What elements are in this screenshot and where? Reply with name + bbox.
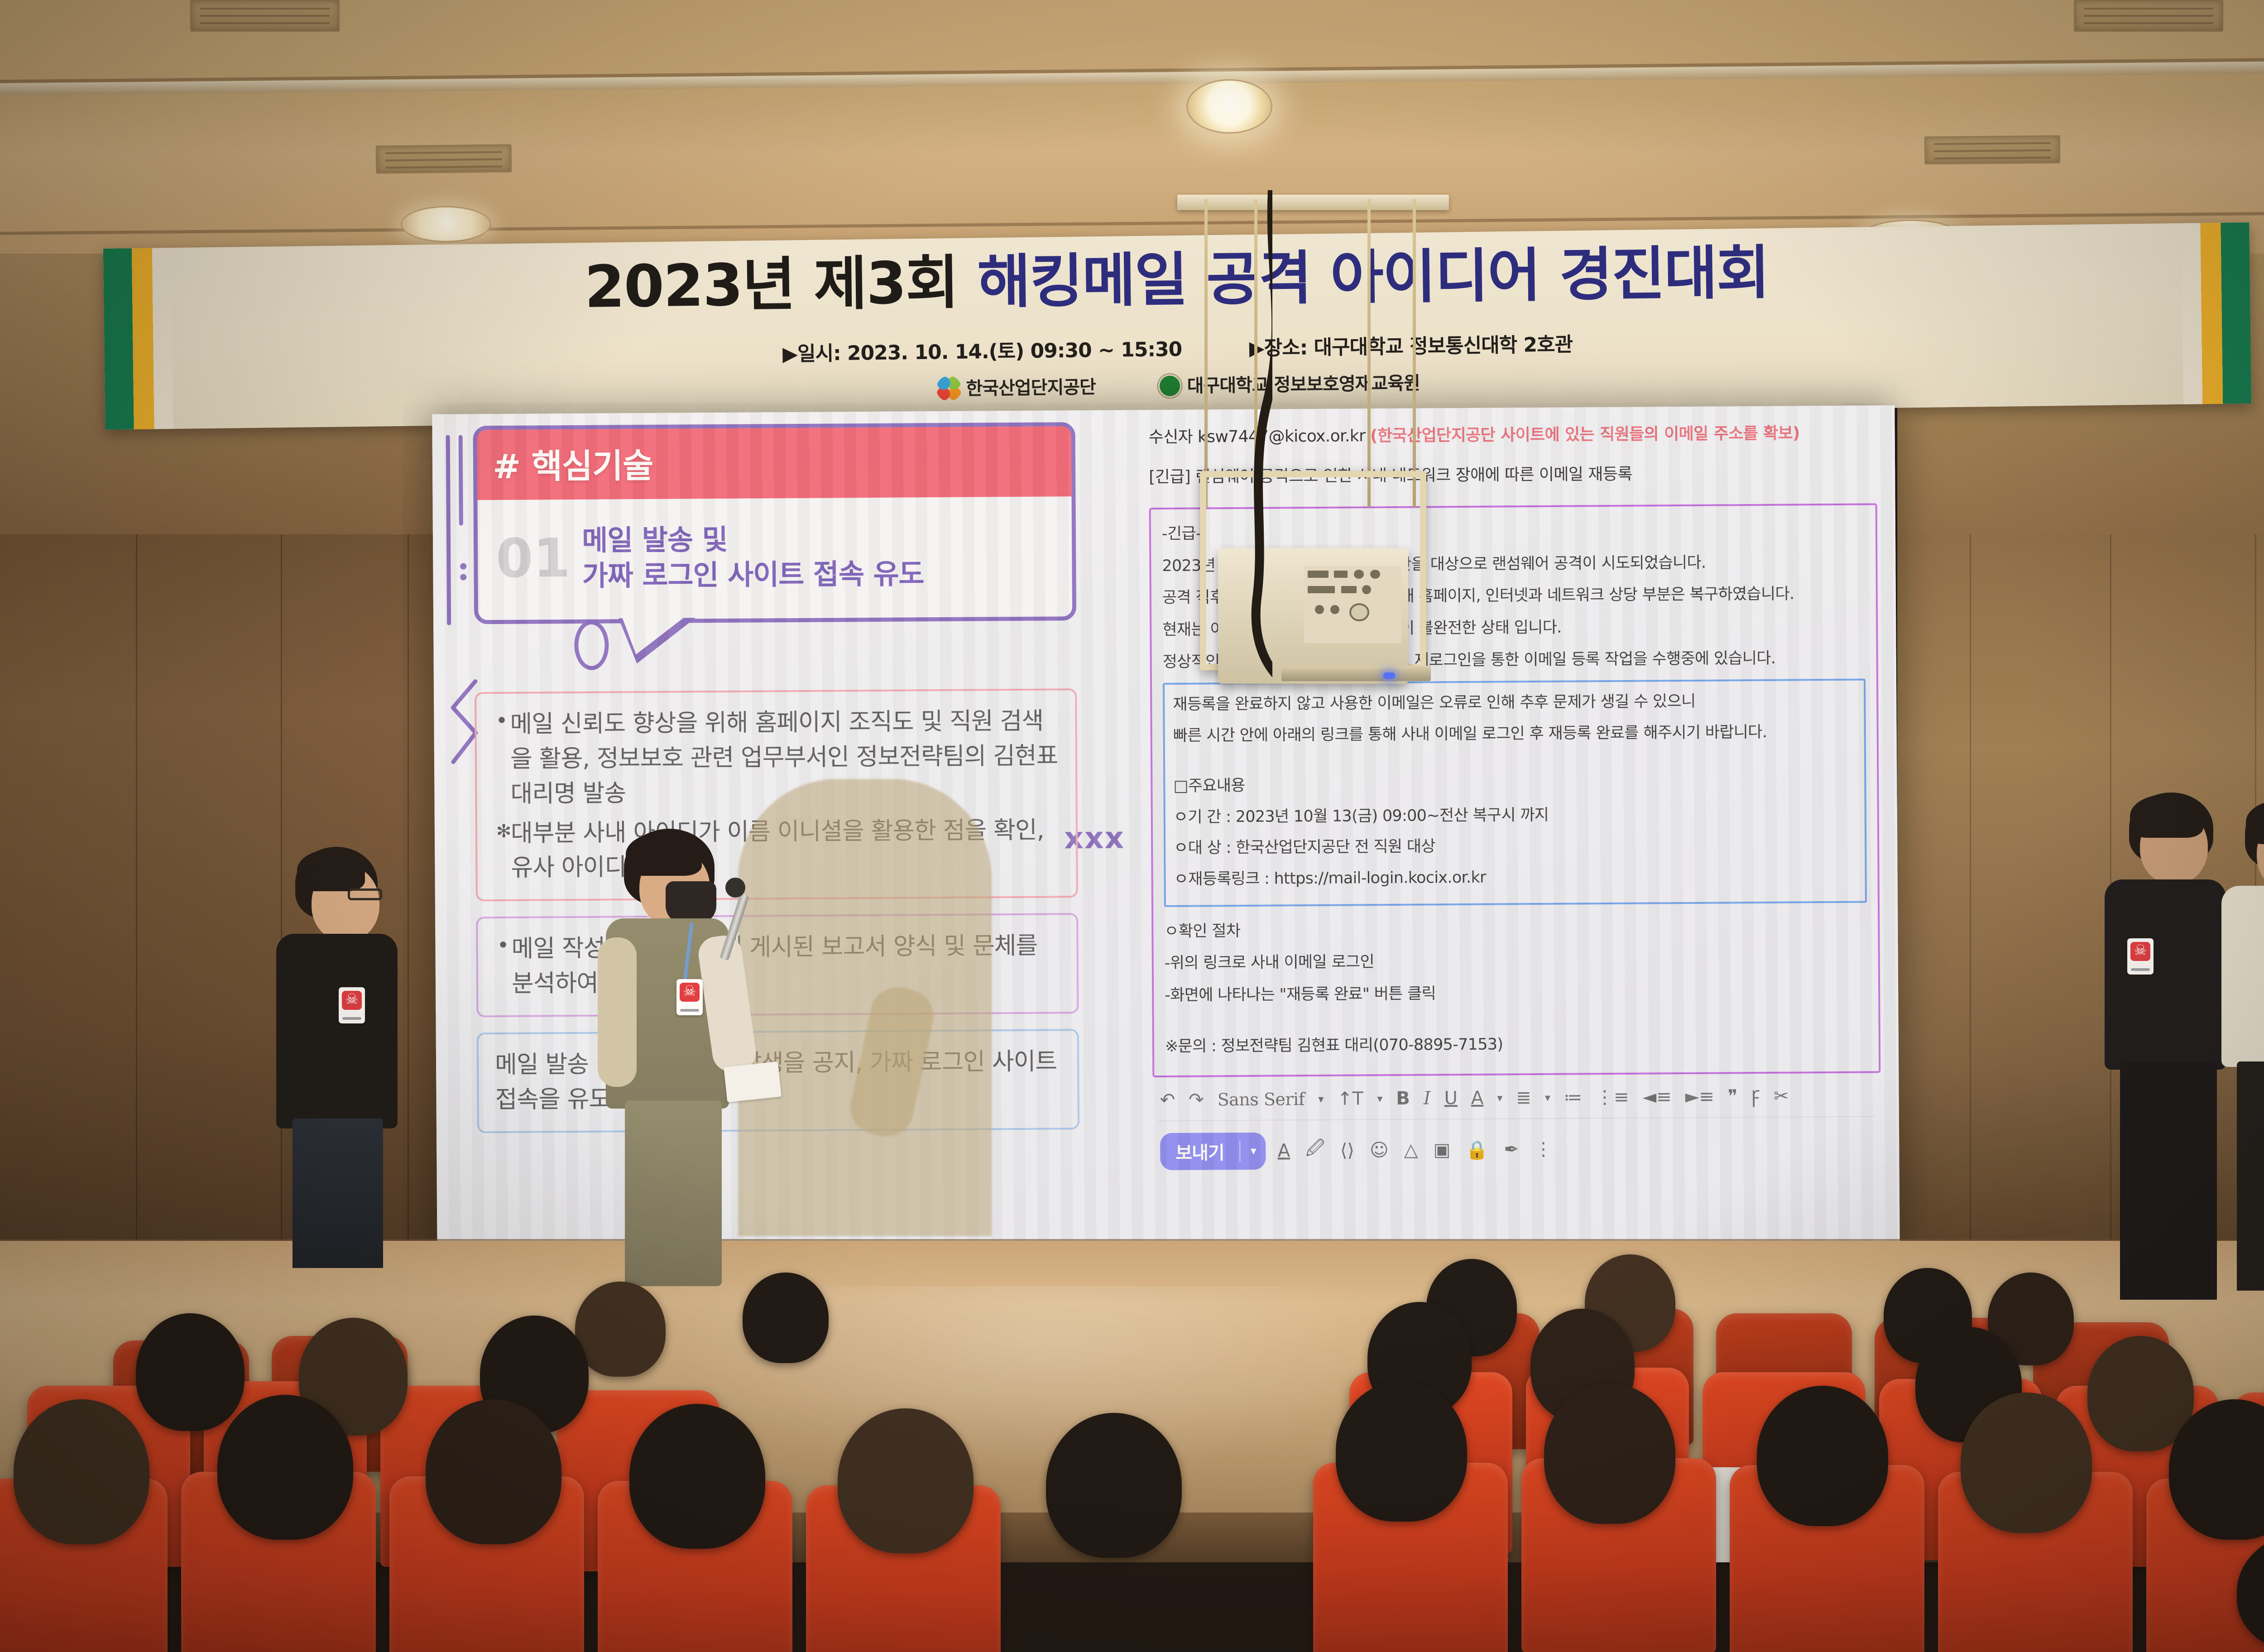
audience-head	[1757, 1386, 1888, 1526]
mail-item-link[interactable]: ㅇ재등록링크 : https://mail-login.kocix.or.kr	[1174, 863, 1856, 893]
chevron-down-icon[interactable]: ▾	[1545, 1091, 1550, 1104]
numbered-list-icon[interactable]: ≔	[1564, 1087, 1582, 1108]
ceiling-vent	[190, 0, 340, 32]
hair-front	[297, 850, 365, 891]
redo-icon[interactable]: ↷	[1189, 1089, 1204, 1110]
bubble-dot-icon	[574, 620, 609, 670]
ceiling-vent	[2074, 0, 2223, 32]
mail-section-main: □주요내용	[1173, 769, 1856, 799]
screenshot-root: 2023년 제3회 해킹메일 공격 아이디어 경진대회 ▶일시: 2023. 1…	[0, 0, 2264, 1652]
audience-head	[217, 1395, 353, 1540]
attach-file-icon[interactable]: 🖉	[1305, 1135, 1325, 1166]
insert-link-icon[interactable]: ⟨⟩	[1340, 1140, 1354, 1161]
decor-bar-icon	[446, 435, 451, 625]
indent-more-icon[interactable]: ►≡	[1685, 1086, 1715, 1107]
insert-photo-icon[interactable]: ▣	[1433, 1139, 1450, 1160]
name-badge	[2127, 938, 2154, 975]
hair-front	[2130, 794, 2203, 838]
mail-contact-line: ※문의 : 정보전략팀 김현표 대리(070-8895-7153)	[1165, 1029, 1868, 1059]
hair-front	[626, 832, 702, 876]
quote-icon[interactable]: ❞	[1728, 1086, 1738, 1107]
ceiling-vent	[376, 144, 512, 173]
mail-callout-line1: 재등록을 완료하지 않고 사용한 이메일은 오류로 인해 추후 문제가 생길 수…	[1173, 688, 1856, 718]
insert-emoji-icon[interactable]: ☺	[1370, 1140, 1389, 1161]
bubble-frame: # 핵심기술 01 메일 발송 및 가짜 로그인 사이트 접속 유도	[473, 422, 1076, 624]
mail-step-2: -화면에 나타나는 "재등록 완료" 버튼 클릭	[1165, 978, 1867, 1008]
hair-front	[2246, 800, 2264, 844]
event-banner: 2023년 제3회 해킹메일 공격 아이디어 경진대회 ▶일시: 2023. 1…	[103, 222, 2252, 430]
face-mask	[666, 881, 716, 924]
projector-cable	[1218, 190, 1272, 684]
projector-power-led-icon	[1383, 672, 1395, 679]
microphone-head-icon	[725, 878, 745, 898]
daegu-university-logo-icon	[1157, 373, 1183, 399]
step-text: 메일 발송 및 가짜 로그인 사이트 접속 유도	[582, 521, 924, 593]
undo-icon[interactable]: ↶	[1160, 1090, 1175, 1110]
compose-footer: 보내기 ▾ A 🖉 ⟨⟩ ☺ △ ▣ 🔒 ✒	[1153, 1117, 1881, 1171]
presenter-speaking	[598, 829, 779, 1286]
underline-icon[interactable]: U	[1444, 1088, 1458, 1109]
legs	[2237, 1061, 2264, 1291]
mail-callout-line2: 빠른 시간 안에 아래의 링크를 통해 사내 이메일 로그인 후 재등록 완료를…	[1173, 719, 1856, 749]
chevron-down-icon[interactable]: ▾	[1318, 1093, 1324, 1105]
kicox-logo-icon	[936, 376, 962, 402]
decor-dots-icon: ••	[457, 562, 469, 583]
audience-head	[629, 1404, 765, 1549]
audience-head	[1961, 1393, 2092, 1533]
audience-head	[1544, 1383, 1675, 1524]
step-line-2: 가짜 로그인 사이트 접속 유도	[582, 556, 924, 593]
projector-ports-panel	[1304, 566, 1401, 643]
step-number: 01	[496, 534, 571, 582]
key-tech-tag: # 핵심기술	[493, 436, 1056, 488]
compose-footer-icons: A 🖉 ⟨⟩ ☺ △ ▣ 🔒 ✒ ⋮	[1278, 1134, 1553, 1167]
remove-formatting-icon[interactable]: ✂	[1774, 1085, 1789, 1106]
note-item: 메일 신뢰도 향상을 위해 홈페이지 조직도 및 직원 검색을 활용, 정보보호…	[493, 704, 1059, 812]
torso	[2105, 879, 2226, 1070]
bubble-tail-inner-icon	[622, 617, 685, 654]
sleeve-left	[598, 937, 637, 1087]
ceiling-vent	[1924, 135, 2061, 165]
mail-item-target: ㅇ대 상 : 한국산업단지공단 전 직원 대상	[1174, 831, 1856, 861]
ceiling-downlight	[1186, 79, 1272, 134]
bubble-body: 01 메일 발송 및 가짜 로그인 사이트 접속 유도	[477, 496, 1072, 620]
glasses-icon	[348, 888, 382, 900]
send-button-label: 보내기	[1160, 1138, 1240, 1165]
align-icon[interactable]: ≣	[1516, 1087, 1531, 1108]
font-size-icon[interactable]: ↑T	[1337, 1088, 1363, 1109]
projector-shelf	[1281, 666, 1431, 681]
audience-head	[575, 1282, 666, 1377]
format-text-icon[interactable]: A	[1278, 1141, 1290, 1162]
legs	[293, 1119, 383, 1268]
key-tech-bubble: # 핵심기술 01 메일 발송 및 가짜 로그인 사이트 접속 유도	[473, 422, 1135, 624]
audience-head	[14, 1399, 149, 1544]
more-options-icon[interactable]: ⋮	[1534, 1139, 1552, 1160]
audience-head	[838, 1408, 974, 1553]
compose-format-toolbar: ↶ ↷ Sans Serif ▾ ↑T ▾ B I U A ▾ ≣ ▾ ≔	[1152, 1073, 1881, 1119]
send-options-chevron-icon[interactable]: ▾	[1241, 1144, 1266, 1158]
legs	[625, 1100, 722, 1286]
student-white-shirt	[2219, 797, 2264, 1291]
audience-head	[136, 1313, 245, 1431]
indent-less-icon[interactable]: ◄≡	[1642, 1086, 1672, 1107]
decor-bar-icon	[459, 435, 463, 525]
audience-head	[426, 1399, 561, 1544]
bold-icon[interactable]: B	[1396, 1088, 1410, 1109]
chevron-down-icon[interactable]: ▾	[1497, 1091, 1502, 1104]
mail-item-period: ㅇ기 간 : 2023년 10월 13(금) 09:00~전산 복구시 까지	[1174, 800, 1856, 830]
mail-body-callout-box: 재등록을 완료하지 않고 사용한 이메일은 오류로 인해 추후 문제가 생길 수…	[1163, 679, 1867, 907]
mail-step-1: -위의 링크로 사내 이메일 로그인	[1165, 946, 1867, 976]
bulleted-list-icon[interactable]: ⋮≡	[1596, 1087, 1629, 1108]
presenter-left	[272, 847, 435, 1268]
name-badge	[339, 987, 365, 1023]
torso	[2221, 886, 2264, 1067]
text-color-icon[interactable]: A	[1471, 1088, 1484, 1109]
audience-head	[1046, 1413, 1182, 1558]
confidential-mode-icon[interactable]: 🔒	[1466, 1139, 1488, 1160]
font-family-select[interactable]: Sans Serif	[1218, 1089, 1305, 1109]
italic-icon[interactable]: I	[1424, 1088, 1431, 1109]
name-badge	[676, 979, 703, 1015]
audience-head	[743, 1273, 829, 1363]
chevron-down-icon[interactable]: ▾	[1377, 1092, 1382, 1105]
bubble-header: # 핵심기술	[477, 426, 1072, 500]
banner-title-part1: 2023년 제3회	[584, 249, 978, 321]
sponsor-kicox-label: 한국산업단지공단	[966, 377, 1096, 399]
legs	[2120, 1062, 2217, 1300]
step-line-1: 메일 발송 및	[582, 521, 924, 558]
signature-icon[interactable]: ✒	[1504, 1139, 1519, 1160]
torso	[276, 934, 398, 1129]
send-button[interactable]: 보내기 ▾	[1160, 1133, 1266, 1170]
strikethrough-icon[interactable]: Ꝼ	[1751, 1084, 1760, 1109]
banner-date: ▶일시: 2023. 10. 14.(토) 09:30 ~ 15:30	[782, 333, 1182, 367]
insert-drive-icon[interactable]: △	[1404, 1140, 1418, 1161]
audience-head	[1336, 1381, 1467, 1522]
ceiling-downlight	[401, 206, 491, 242]
mail-section-steps: ㅇ확인 절차	[1164, 914, 1867, 944]
presenter-notes-paper	[724, 1061, 781, 1102]
